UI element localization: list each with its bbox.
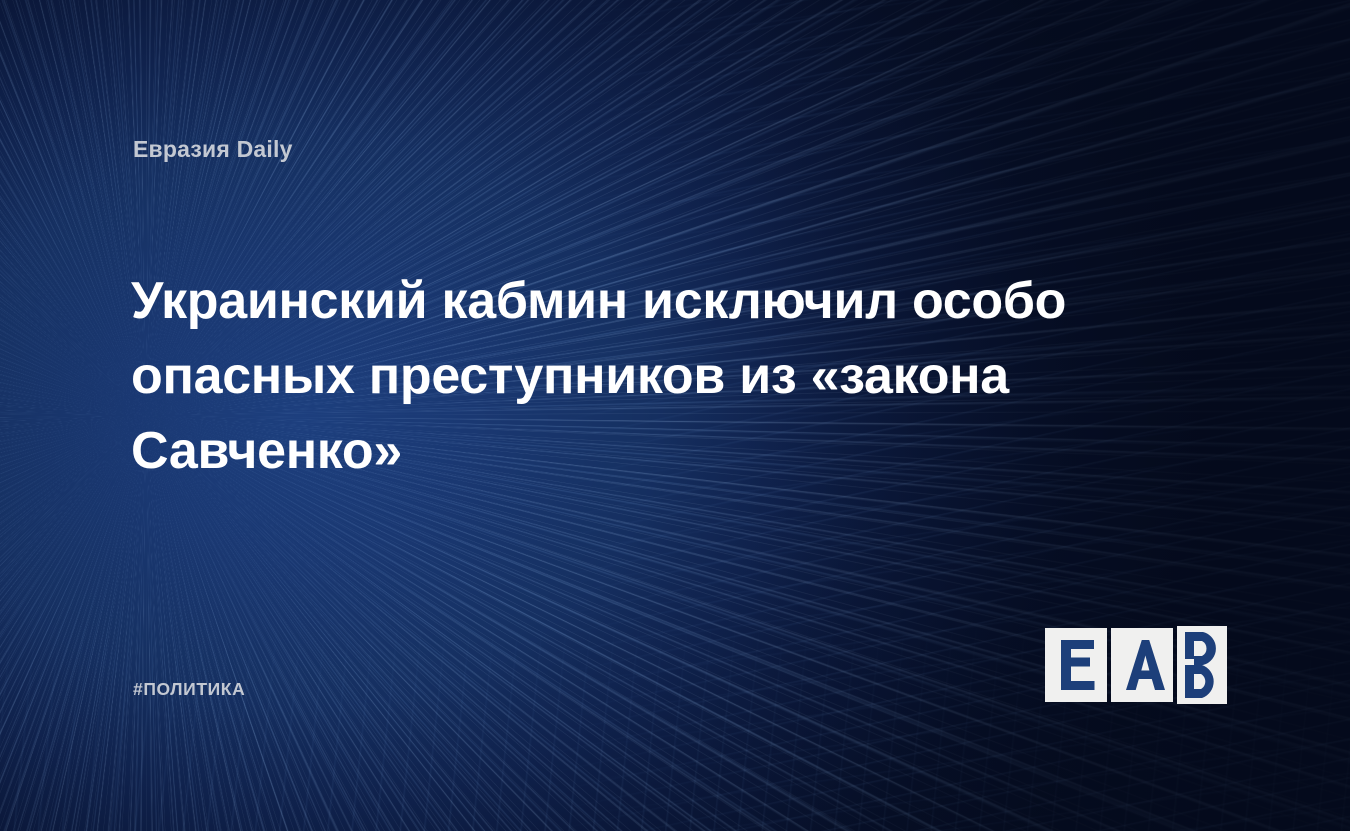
logo-tile-d-top xyxy=(1177,626,1227,665)
logo-tile-e xyxy=(1045,628,1107,702)
card-content: Евразия Daily Украинский кабмин исключил… xyxy=(0,0,1350,831)
logo-tile-a xyxy=(1111,628,1173,702)
article-headline: Украинский кабмин исключил особо опасных… xyxy=(131,264,1121,489)
masthead-brand-name: Евразия Daily xyxy=(133,136,293,163)
logo-tile-d-bottom xyxy=(1177,665,1227,704)
ead-logo xyxy=(1045,626,1227,704)
category-tag: #ПОЛИТИКА xyxy=(133,679,245,700)
news-share-card: Евразия Daily Украинский кабмин исключил… xyxy=(0,0,1350,831)
